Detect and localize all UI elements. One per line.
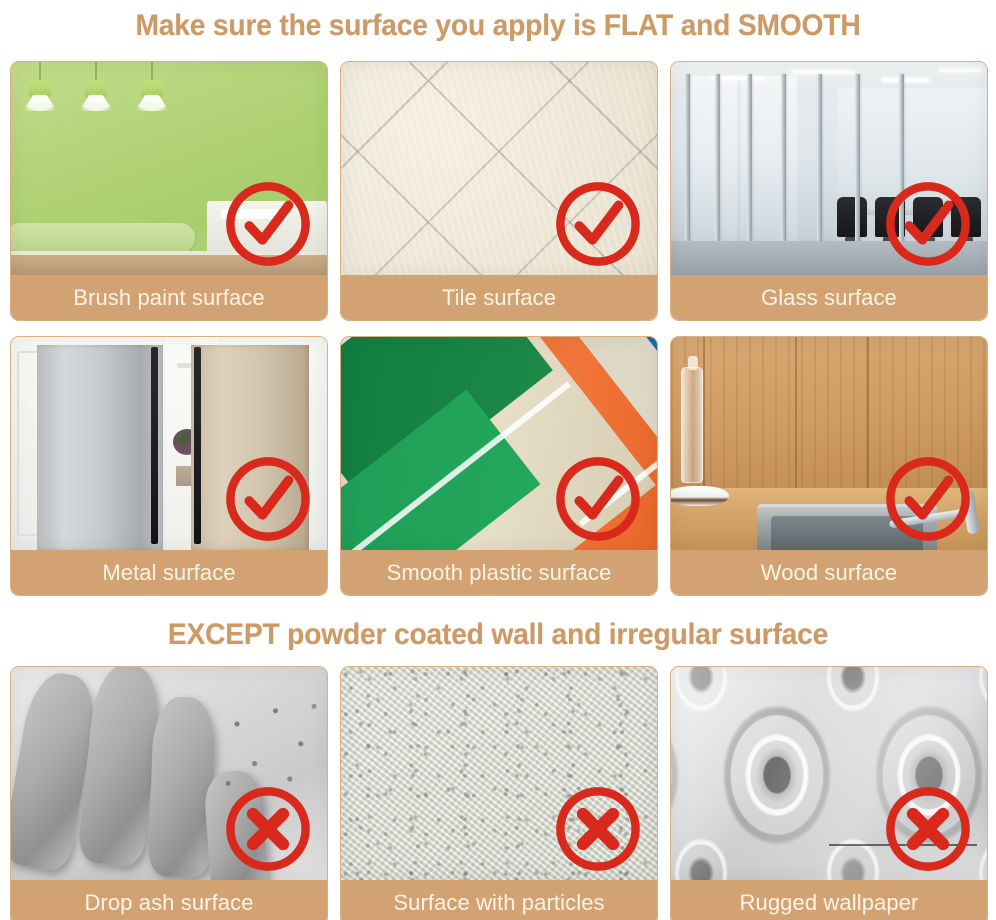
glass-mullion <box>817 74 822 257</box>
card-label: Glass surface <box>671 275 987 320</box>
card-label: Metal surface <box>11 550 327 595</box>
metallic-sheen <box>671 667 987 880</box>
glass-mullion <box>899 74 904 257</box>
wood-panel-seam <box>703 337 705 492</box>
check-circle-icon <box>551 177 645 271</box>
glass-mullion <box>747 74 752 257</box>
glass-pane <box>687 76 737 255</box>
card-surface-with-particles[interactable]: Surface with particles <box>340 666 658 920</box>
dust-particles <box>215 691 325 801</box>
pendant-lamp-icon <box>79 62 113 120</box>
glass-mullion <box>685 74 690 257</box>
card-label: Surface with particles <box>341 880 657 920</box>
stainless-sink <box>757 504 937 550</box>
glass-mullion <box>781 74 786 257</box>
pendant-lamp-icon <box>135 62 169 120</box>
wood-panel-seam <box>795 337 797 492</box>
photo-smooth-plastic-surface <box>341 337 657 550</box>
floor-strip <box>11 255 327 275</box>
infographic-page: Make sure the surface you apply is FLAT … <box>0 0 996 920</box>
suitable-row-2: Metal surface Smo <box>10 336 988 596</box>
suitable-row-1: Brush paint surface Tile surface <box>10 61 988 321</box>
card-label: Rugged wallpaper <box>671 880 987 920</box>
card-wood-surface[interactable]: Wood surface <box>670 336 988 596</box>
wood-panel-seam <box>867 337 869 492</box>
card-rugged-wallpaper[interactable]: Rugged wallpaper <box>670 666 988 920</box>
photo-surface-with-particles <box>341 667 657 880</box>
card-glass-surface[interactable]: Glass surface <box>670 61 988 321</box>
card-label: Wood surface <box>671 550 987 595</box>
page-title-suitable: Make sure the surface you apply is FLAT … <box>30 9 966 43</box>
photo-drop-ash-surface <box>11 667 327 880</box>
vignette <box>341 62 657 275</box>
silver-fridge <box>37 345 163 550</box>
photo-brush-paint-surface <box>11 62 327 275</box>
photo-wood-surface <box>671 337 987 550</box>
beige-fridge <box>191 345 309 550</box>
photo-metal-surface <box>11 337 327 550</box>
card-label: Drop ash surface <box>11 880 327 920</box>
stacked-plates <box>671 486 729 506</box>
glass-bottle <box>681 367 703 483</box>
photo-glass-surface <box>671 62 987 275</box>
hairline-mark <box>829 844 977 846</box>
card-label: Smooth plastic surface <box>341 550 657 595</box>
pendant-lamp-icon <box>23 62 57 120</box>
fridge-handle-seam <box>194 347 201 544</box>
floor-strip <box>671 241 987 275</box>
glass-mullion <box>855 74 860 257</box>
cabinet-shape <box>207 201 327 257</box>
photo-rugged-wallpaper <box>671 667 987 880</box>
finger-shape <box>148 696 216 878</box>
card-tile-surface[interactable]: Tile surface <box>340 61 658 321</box>
unsuitable-row-1: Drop ash surface Surface with particles <box>10 666 988 920</box>
glass-mullion <box>715 74 720 257</box>
card-brush-paint-surface[interactable]: Brush paint surface <box>10 61 328 321</box>
bench-shape <box>11 223 195 253</box>
card-label: Tile surface <box>341 275 657 320</box>
card-drop-ash-surface[interactable]: Drop ash surface <box>10 666 328 920</box>
fridge-handle-seam <box>151 347 158 544</box>
vignette <box>341 667 657 880</box>
card-label: Brush paint surface <box>11 275 327 320</box>
card-metal-surface[interactable]: Metal surface <box>10 336 328 596</box>
page-title-unsuitable: EXCEPT powder coated wall and irregular … <box>30 618 966 652</box>
card-smooth-plastic-surface[interactable]: Smooth plastic surface <box>340 336 658 596</box>
photo-tile-surface <box>341 62 657 275</box>
